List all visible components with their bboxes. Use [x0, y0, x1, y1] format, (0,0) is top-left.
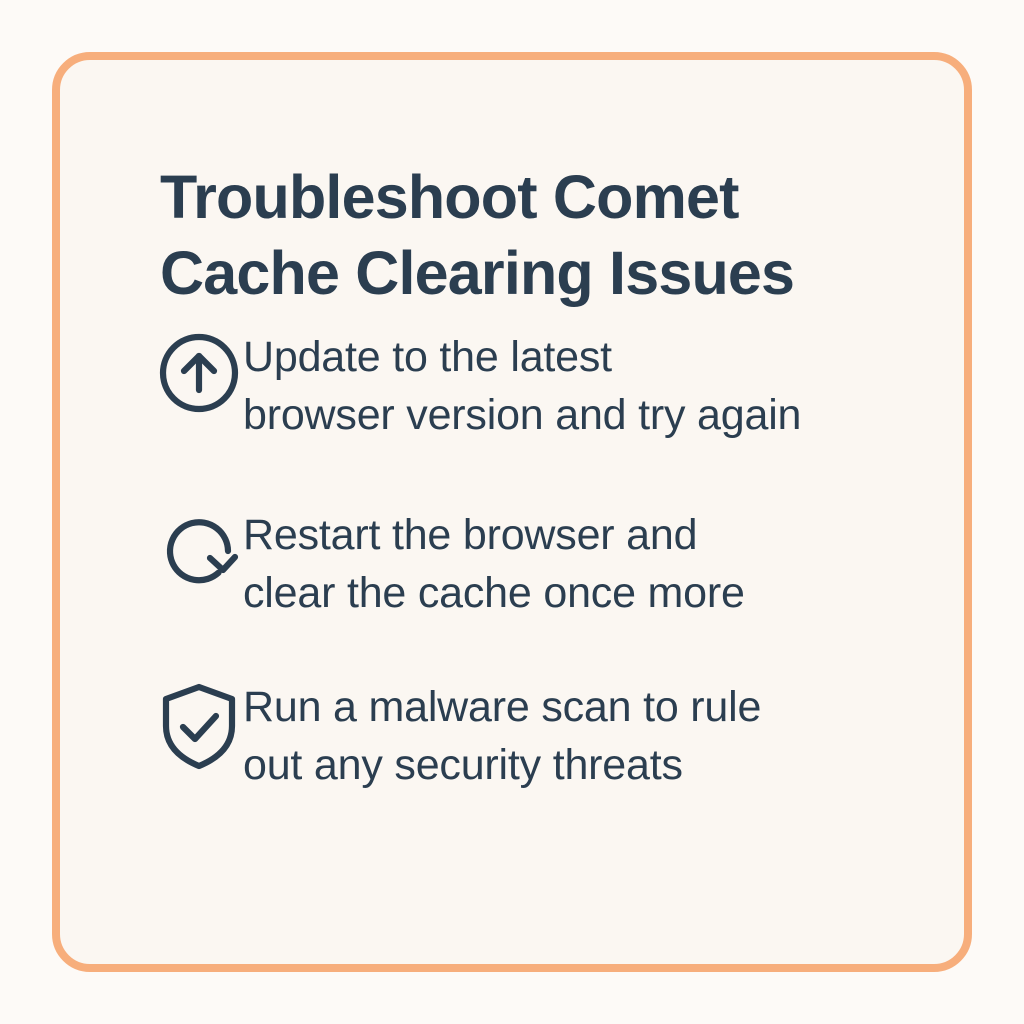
list-item-label: Run a malware scan to rule out any secur…	[242, 678, 928, 794]
page-title: Troubleshoot Comet Cache Clearing Issues	[160, 159, 920, 311]
arrow-up-circle-icon	[158, 328, 242, 420]
troubleshoot-card: Troubleshoot Comet Cache Clearing Issues…	[52, 52, 972, 972]
list-item-label: Update to the latest browser version and…	[242, 328, 928, 444]
list-item: Run a malware scan to rule out any secur…	[158, 678, 928, 794]
list-item: Restart the browser and clear the cache …	[158, 506, 928, 622]
list-item: Update to the latest browser version and…	[158, 328, 928, 444]
tips-list: Update to the latest browser version and…	[158, 328, 928, 794]
poster-canvas: Troubleshoot Comet Cache Clearing Issues…	[0, 0, 1024, 1024]
list-item-label: Restart the browser and clear the cache …	[242, 506, 928, 622]
refresh-restart-icon	[158, 506, 242, 598]
shield-check-icon	[158, 678, 242, 770]
